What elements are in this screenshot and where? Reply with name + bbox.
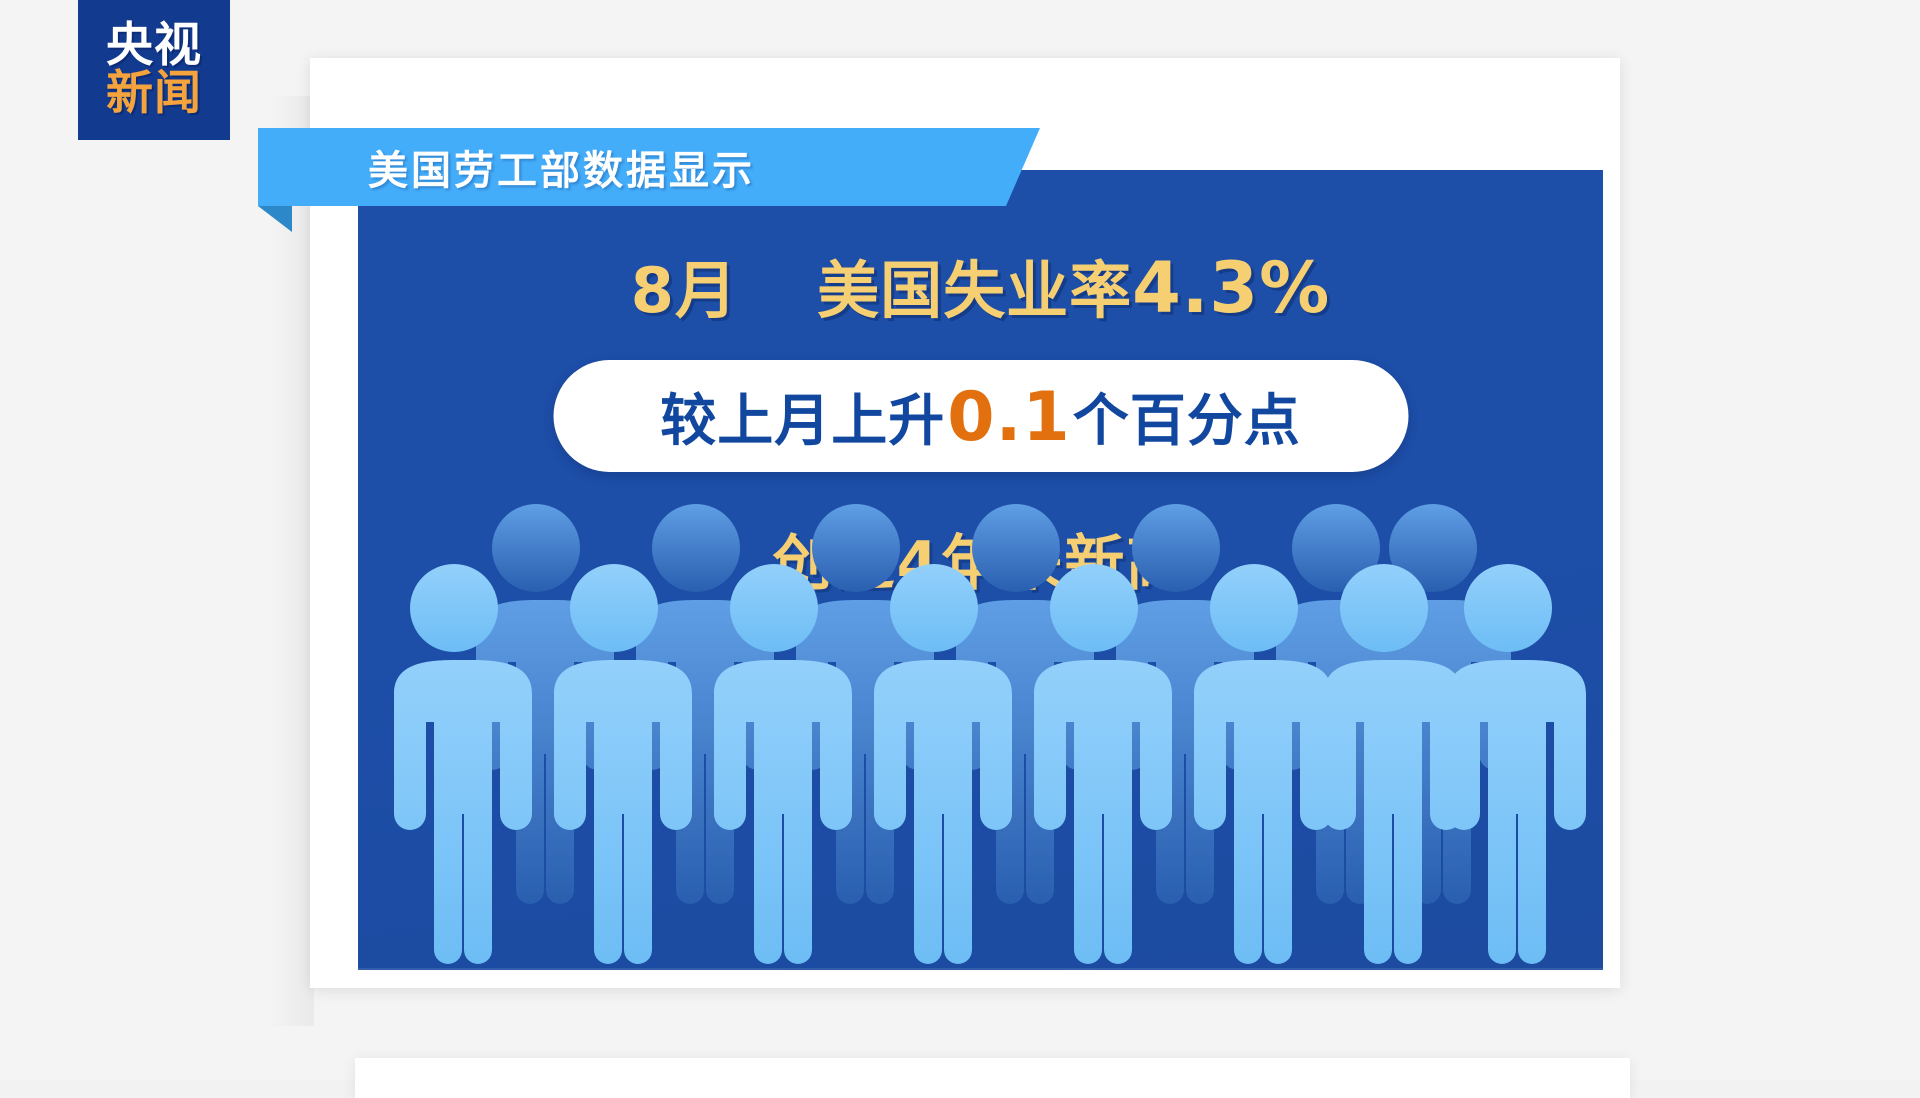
- source-banner-body: 美国劳工部数据显示: [258, 128, 1040, 206]
- logo-line-top: 央视: [106, 22, 202, 70]
- infographic-panel: 8月 美国失业率4.3% 较上月上升 0.1 个百分点 创近4年来新高: [358, 170, 1603, 970]
- people-illustration: [358, 170, 1603, 970]
- panel-floor-line: [358, 968, 1603, 970]
- cctv-news-logo: 央视 新闻: [78, 0, 230, 140]
- people-front-row: [358, 556, 1603, 970]
- source-banner-label: 美国劳工部数据显示: [368, 138, 755, 196]
- card-left-shadow: [268, 96, 314, 1026]
- article-card-next-block: [355, 1058, 1630, 1098]
- source-banner: 美国劳工部数据显示: [258, 128, 1040, 206]
- logo-line-bottom: 新闻: [106, 70, 202, 118]
